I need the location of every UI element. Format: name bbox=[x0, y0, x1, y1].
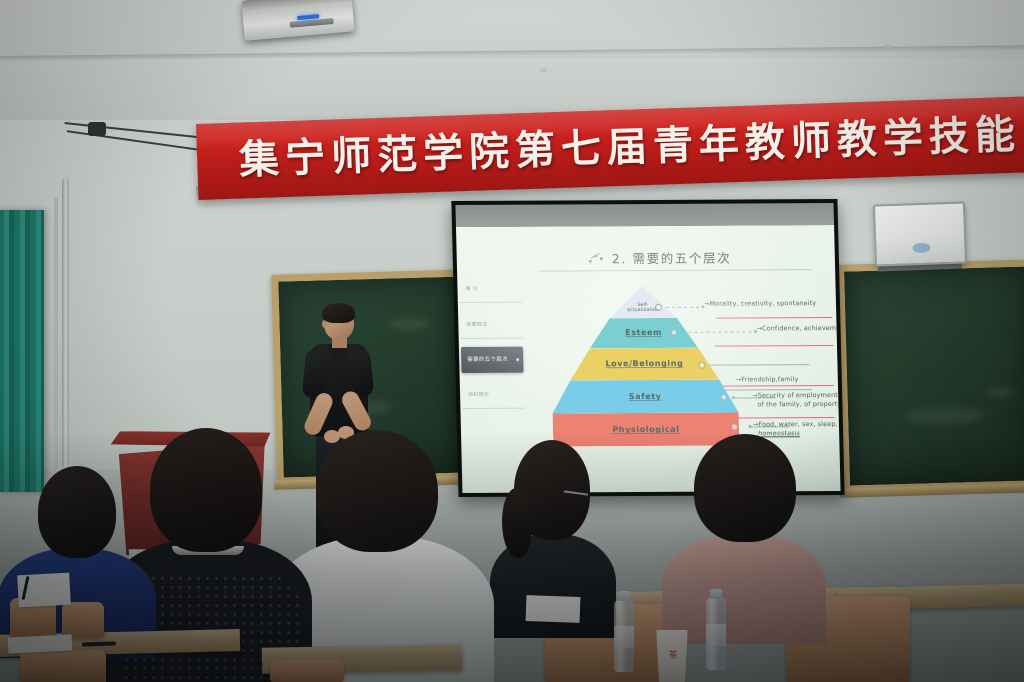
ceiling-fixture-1 bbox=[540, 68, 547, 73]
annotation-love-belonging: →Friendship,family bbox=[736, 375, 799, 385]
presenter-sleeve-right bbox=[348, 349, 375, 397]
water-bottle-1 bbox=[614, 600, 634, 672]
wall-speaker bbox=[873, 201, 967, 266]
bottle-cap-1 bbox=[618, 591, 630, 601]
attendee-ponytail-hair-tail bbox=[502, 488, 532, 558]
slide-underline-2 bbox=[715, 345, 833, 347]
annotation-self-actualization: →Morality, creativity, spontaneity bbox=[704, 299, 816, 309]
pyramid-dot-4 bbox=[731, 424, 738, 431]
chalkboard-right bbox=[837, 259, 1024, 492]
bottle-label-1 bbox=[614, 626, 634, 648]
paper-cup-mark: 茶 bbox=[666, 652, 680, 670]
leader-arrow-3 bbox=[732, 396, 735, 400]
pyramid-dot-2 bbox=[698, 362, 705, 369]
paper-right-1 bbox=[526, 595, 581, 623]
pyramid-label-love-belonging: Love/Belonging bbox=[605, 359, 683, 369]
annotation-safety: →Security of employment, of resources, o… bbox=[752, 391, 840, 410]
pyramid-dot-3 bbox=[720, 394, 727, 401]
presenter-sleeve-left bbox=[302, 349, 328, 399]
slide-nav-label-0: 绪 论 bbox=[465, 285, 478, 292]
slide-nav-item-3[interactable]: 动机理论 bbox=[462, 381, 525, 409]
ceiling-fixture-2 bbox=[884, 44, 891, 49]
slide-nav-label-1: 需要概述 bbox=[466, 321, 487, 328]
annotation-esteem: →Confidence, achievement bbox=[756, 324, 840, 334]
chair-back-left-2 bbox=[62, 602, 104, 638]
attendee-polkadot-head bbox=[150, 428, 262, 552]
pyramid-level-safety: Safety bbox=[552, 380, 739, 414]
slide-underline-1 bbox=[716, 317, 832, 319]
pyramid-level-esteem: Esteem bbox=[550, 318, 737, 349]
pyramid-dot-1 bbox=[671, 329, 678, 336]
slide-nav-item-1[interactable]: 需要概述 bbox=[460, 311, 523, 339]
water-bottle-2 bbox=[706, 598, 726, 670]
attendee-mauve-top bbox=[676, 434, 808, 634]
pyramid-label-physiological: Physiological bbox=[612, 425, 679, 435]
slide-nav-label-2: 需要的五个层次 bbox=[467, 356, 508, 364]
leader-arrow-4 bbox=[749, 424, 752, 428]
chair-back-left-3 bbox=[20, 650, 106, 682]
attendee-mauve-shoulders bbox=[662, 534, 826, 644]
leader-line-0 bbox=[660, 307, 702, 308]
presenter-hair bbox=[322, 303, 355, 323]
slide-title-row: 2. 需要的五个层次 bbox=[589, 248, 732, 268]
leader-line-2 bbox=[707, 364, 809, 366]
attendee-blue-head bbox=[38, 466, 116, 558]
slide-nav-label-3: 动机理论 bbox=[468, 391, 489, 398]
classroom-scene: 集宁师范学院第七届青年教师教学技能 绪 论 需要概述 需要的五个层次 bbox=[0, 0, 1024, 682]
bottle-cap-2 bbox=[710, 589, 722, 599]
attendee-white-head bbox=[316, 430, 438, 552]
speaker-grill-icon bbox=[912, 243, 930, 254]
pyramid-label-esteem: Esteem bbox=[625, 328, 662, 337]
bottle-label-2 bbox=[706, 624, 726, 646]
window-curtain bbox=[0, 210, 44, 492]
slide-title: 2. 需要的五个层次 bbox=[612, 248, 732, 268]
sparkle-icon bbox=[589, 251, 605, 265]
slide-title-rule bbox=[539, 269, 811, 271]
pyramid-label-safety: Safety bbox=[629, 392, 662, 401]
chair-back-mid bbox=[270, 660, 344, 682]
slide-nav-item-2-active[interactable]: 需要的五个层次 bbox=[461, 347, 524, 373]
slide-nav-active-dot-icon bbox=[516, 358, 519, 361]
slide-nav-item-0[interactable]: 绪 论 bbox=[459, 275, 522, 303]
camera-mount bbox=[88, 122, 106, 136]
wall-pipe bbox=[62, 178, 69, 468]
maslow-pyramid: Self-actualization Esteem Love/Belonging bbox=[549, 286, 739, 447]
screen-top-bar bbox=[455, 203, 834, 227]
attendee-mauve-head bbox=[694, 434, 796, 542]
paper-left-2 bbox=[8, 634, 73, 653]
slide-sidebar: 绪 论 需要概述 需要的五个层次 动机理论 bbox=[459, 275, 524, 417]
leader-line-1 bbox=[677, 331, 755, 332]
pyramid-dot-0 bbox=[655, 304, 662, 311]
